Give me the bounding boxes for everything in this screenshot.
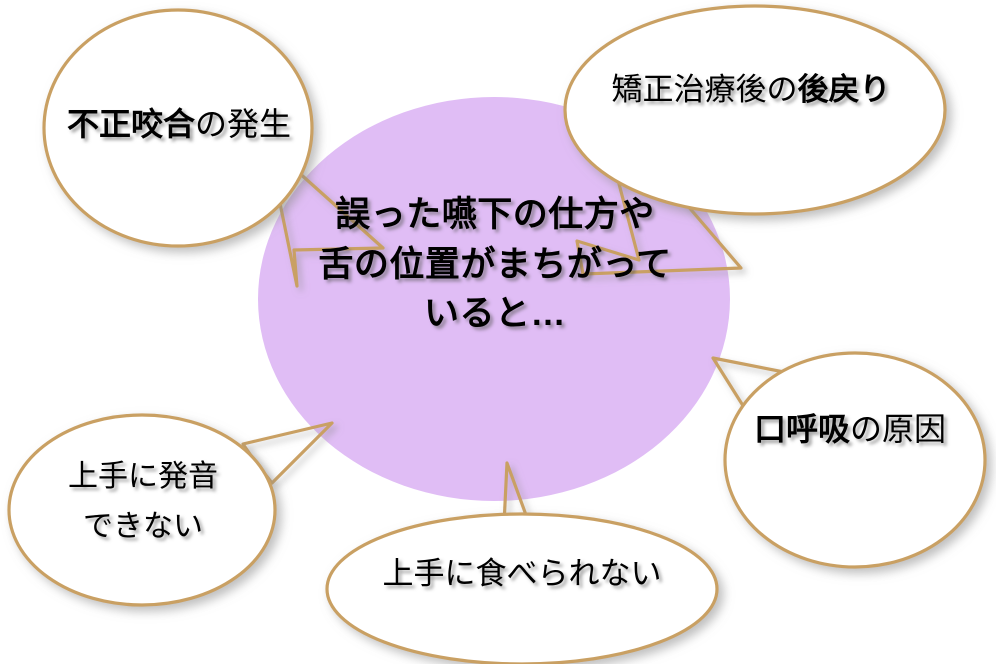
shapes-layer — [0, 0, 996, 664]
bubble-right[interactable] — [713, 353, 985, 567]
bubble-top-right-body — [565, 6, 945, 214]
bubble-top-left-body — [44, 10, 312, 246]
bubble-right-body — [725, 353, 985, 567]
bubble-bottom-left[interactable] — [9, 415, 332, 605]
bubble-bottom-body — [327, 514, 717, 664]
diagram-canvas: 誤った嚥下の仕方や 舌の位置がまちがって いると… 不正咬合の発生 矯正治療後の… — [0, 0, 996, 664]
bubble-bottom-left-body — [9, 415, 275, 605]
bubble-top-left[interactable] — [44, 10, 383, 286]
